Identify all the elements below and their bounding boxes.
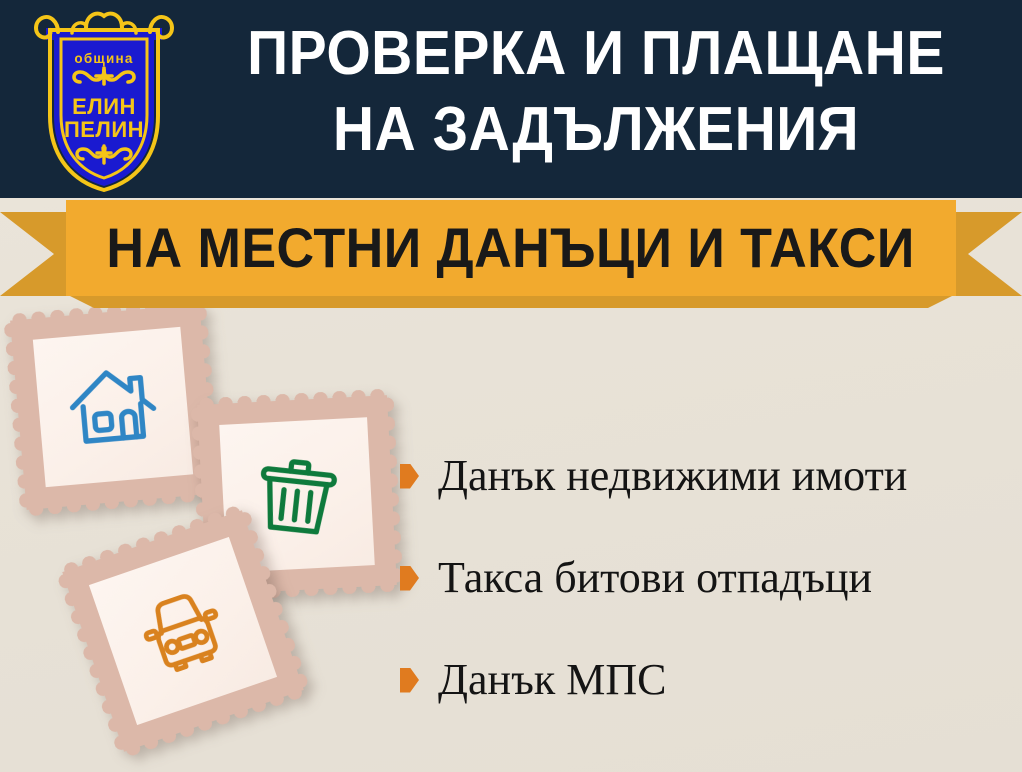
crest-name-line-1: ЕЛИН xyxy=(72,94,136,119)
crest-name-line-2: ПЕЛИН xyxy=(64,117,144,142)
house-icon xyxy=(61,355,165,459)
page-title-line-1: ПРОВЕРКА И ПЛАЩАНЕ xyxy=(222,16,969,92)
list-item[interactable]: Данък недвижими имоти xyxy=(400,425,1010,527)
tax-item-label-1: Такса битови отпадъци xyxy=(438,553,872,603)
car-front-icon xyxy=(122,570,244,692)
trash-bin-icon xyxy=(247,445,348,546)
header-bar: община ЕЛИН ПЕЛИН xyxy=(0,0,1022,198)
municipal-coat-of-arms: община ЕЛИН ПЕЛИН xyxy=(28,6,180,192)
page-title-line-2: НА ЗАДЪЛЖЕНИЯ xyxy=(222,92,969,168)
stamp-card-house xyxy=(10,304,216,510)
tax-type-list: Данък недвижими имоти Такса битови отпад… xyxy=(400,425,1010,731)
arrow-bullet-icon xyxy=(400,464,419,489)
poster-canvas: община ЕЛИН ПЕЛИН xyxy=(0,0,1022,772)
arrow-bullet-icon xyxy=(400,668,419,693)
arrow-bullet-icon xyxy=(400,566,419,591)
subtitle-ribbon: НА МЕСТНИ ДАНЪЦИ И ТАКСИ xyxy=(0,198,1022,308)
ribbon-band: НА МЕСТНИ ДАНЪЦИ И ТАКСИ xyxy=(66,200,956,296)
stamp-face xyxy=(33,327,193,487)
ribbon-subtitle-text: НА МЕСТНИ ДАНЪЦИ И ТАКСИ xyxy=(107,219,915,277)
stamp-collage xyxy=(0,300,420,772)
tax-item-label-2: Данък МПС xyxy=(438,655,666,705)
list-item[interactable]: Данък МПС xyxy=(400,629,1010,731)
crest-municipality-word: община xyxy=(74,51,133,66)
list-item[interactable]: Такса битови отпадъци xyxy=(400,527,1010,629)
ribbon-fold-shadow xyxy=(66,294,956,308)
header-title-group: ПРОВЕРКА И ПЛАЩАНЕ НА ЗАДЪЛЖЕНИЯ xyxy=(190,16,1002,168)
tax-item-label-0: Данък недвижими имоти xyxy=(438,451,907,501)
